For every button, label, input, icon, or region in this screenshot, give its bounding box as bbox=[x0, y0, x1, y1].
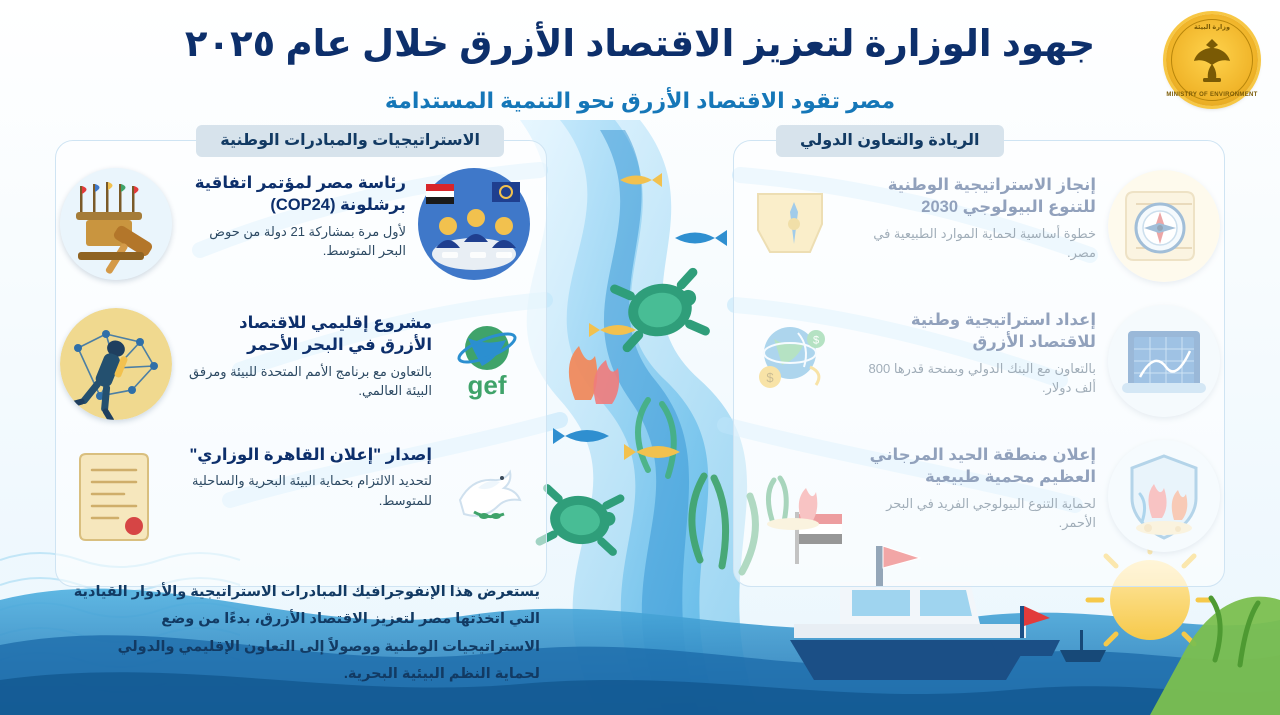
conference-table-icon bbox=[418, 168, 530, 280]
logo-top-label: وزارة البيئة bbox=[1166, 23, 1258, 31]
scroll-declaration-icon bbox=[60, 440, 172, 552]
item-heading: إصدار "إعلان القاهرة الوزاري" bbox=[184, 444, 432, 466]
header: جهود الوزارة لتعزيز الاقتصاد الأزرق خلال… bbox=[0, 0, 1280, 130]
item-description: لأول مرة بمشاركة 21 دولة من حوض البحر ال… bbox=[184, 222, 406, 261]
gavel-flags-icon bbox=[60, 168, 172, 280]
logo-ring bbox=[1171, 19, 1253, 101]
ministry-logo: وزارة البيئة MINISTRY OF ENVIRONMENT bbox=[1166, 14, 1258, 106]
item-description: لتحديد الالتزام بحماية البيئة البحرية وا… bbox=[184, 471, 432, 510]
gef-logo-icon: gef bbox=[444, 318, 530, 404]
page-title: جهود الوزارة لتعزيز الاقتصاد الأزرق خلال… bbox=[0, 22, 1280, 65]
item-heading: مشروع إقليمي للاقتصاد الأزرق في البحر ال… bbox=[184, 312, 432, 357]
panel-left-title: الاستراتيجيات والمبادرات الوطنية bbox=[196, 125, 504, 157]
dove-olive-icon bbox=[444, 450, 530, 536]
item-text: مشروع إقليمي للاقتصاد الأزرق في البحر ال… bbox=[172, 308, 444, 401]
logo-bottom-label: MINISTRY OF ENVIRONMENT bbox=[1166, 92, 1258, 98]
item-text: إصدار "إعلان القاهرة الوزاري" لتحديد الا… bbox=[172, 440, 444, 510]
footer-summary: يستعرض هذا الإنفوجرافيك المبادرات الاستر… bbox=[70, 579, 540, 689]
item-description: بالتعاون مع برنامج الأمم المتحدة للبيئة … bbox=[184, 362, 432, 401]
page-subtitle: مصر تقود الاقتصاد الأزرق نحو التنمية الم… bbox=[0, 88, 1280, 114]
panel-international-leadership: الريادة والتعاون الدولي bbox=[733, 140, 1225, 587]
item-text: رئاسة مصر لمؤتمر اتفاقية برشلونة (COP24)… bbox=[172, 168, 418, 261]
diver-network-icon bbox=[60, 308, 172, 420]
list-item-red-sea-regional-project[interactable]: مشروع إقليمي للاقتصاد الأزرق في البحر ال… bbox=[60, 308, 530, 420]
item-heading: رئاسة مصر لمؤتمر اتفاقية برشلونة (COP24) bbox=[184, 172, 406, 217]
list-item-cop24-presidency[interactable]: رئاسة مصر لمؤتمر اتفاقية برشلونة (COP24)… bbox=[60, 168, 530, 280]
panel-right-title: الريادة والتعاون الدولي bbox=[776, 125, 1004, 157]
gef-wordmark: gef bbox=[468, 370, 507, 400]
list-item-cairo-declaration[interactable]: إصدار "إعلان القاهرة الوزاري" لتحديد الا… bbox=[60, 440, 530, 552]
